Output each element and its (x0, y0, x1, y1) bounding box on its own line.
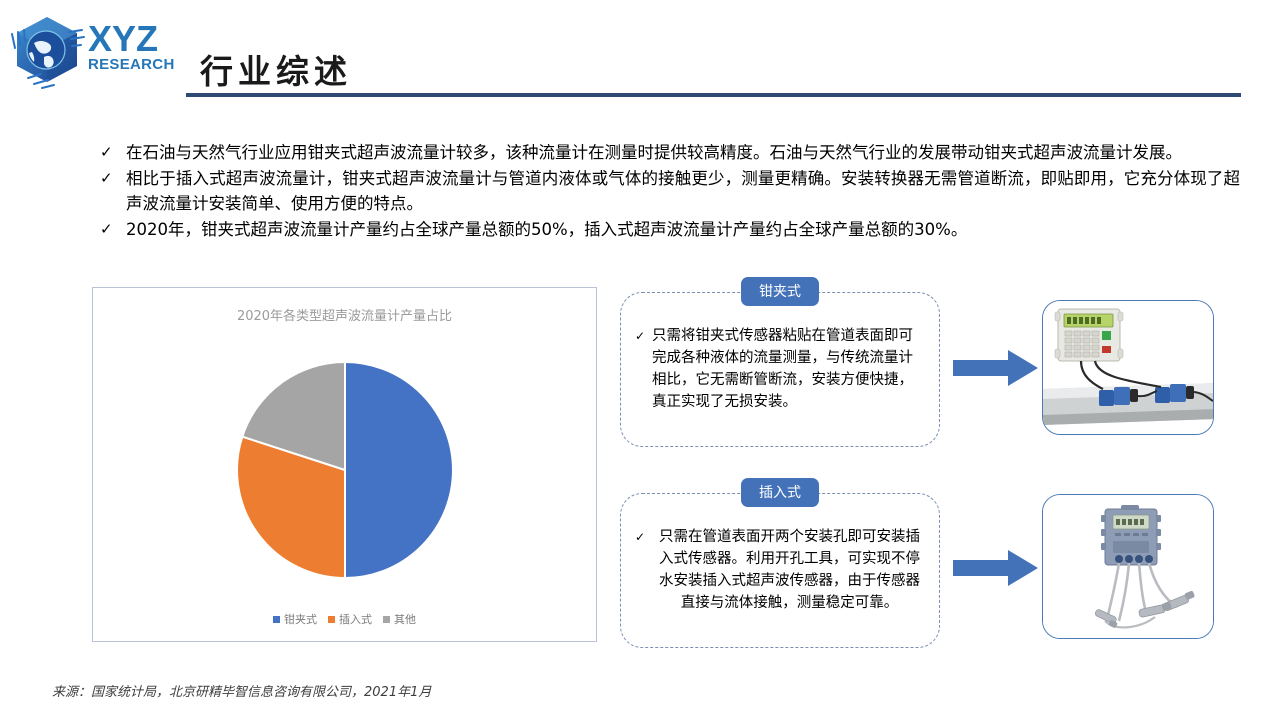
check-icon: ✓ (100, 217, 126, 242)
list-item: ✓ 2020年，钳夹式超声波流量计产量约占全球产量总额的50%，插入式超声波流量… (100, 217, 1240, 242)
callout-card-insertion: 插入式 ✓ 只需在管道表面开两个安装孔即可安装插入式传感器。利用开孔工具，可实现… (620, 493, 940, 648)
legend-label: 插入式 (339, 611, 372, 627)
check-icon: ✓ (100, 140, 126, 165)
check-icon: ✓ (635, 526, 652, 548)
title-divider (186, 93, 1241, 97)
brand-name-secondary: RESEARCH (88, 56, 193, 74)
page-title: 行业综述 (200, 45, 352, 93)
callout-card-clamp-on: 钳夹式 ✓ 只需将钳夹式传感器粘贴在管道表面即可完成各种液体的流量测量，与传统流… (620, 292, 940, 447)
check-icon: ✓ (635, 325, 652, 347)
list-item-text: 在石油与天然气行业应用钳夹式超声波流量计较多，该种流量计在测量时提供较高精度。石… (126, 140, 1240, 165)
insertion-ultrasonic-flowmeter-photo (1042, 494, 1214, 639)
slide-header: XYZ RESEARCH 行业综述 (0, 0, 1280, 110)
right-arrow-icon (953, 348, 1038, 388)
brand-wordmark: XYZ RESEARCH (88, 22, 193, 74)
legend-label: 其他 (394, 611, 416, 627)
chart-title: 2020年各类型超声波流量计产量占比 (93, 305, 596, 324)
list-item-text: 相比于插入式超声波流量计，钳夹式超声波流量计与管道内液体或气体的接触更少，测量更… (126, 166, 1240, 216)
callout-badge: 插入式 (741, 478, 819, 507)
list-item: ✓ 相比于插入式超声波流量计，钳夹式超声波流量计与管道内液体或气体的接触更少，测… (100, 166, 1240, 216)
legend-swatch (273, 616, 280, 623)
callout-body: ✓ 只需将钳夹式传感器粘贴在管道表面即可完成各种液体的流量测量，与传统流量计相比… (635, 325, 927, 413)
source-note: 来源：国家统计局，北京研精毕智信息咨询有限公司，2021年1月 (52, 681, 431, 700)
callout-badge: 钳夹式 (741, 277, 819, 306)
pie-slice (345, 362, 453, 578)
chart-legend: 钳夹式 插入式 其他 (93, 611, 596, 627)
bullet-list: ✓ 在石油与天然气行业应用钳夹式超声波流量计较多，该种流量计在测量时提供较高精度… (100, 140, 1240, 243)
callout-body: ✓ 只需在管道表面开两个安装孔即可安装插入式传感器。利用开孔工具，可实现不停水安… (635, 526, 927, 614)
brand-name-primary: XYZ (88, 22, 193, 56)
callout-text: 只需将钳夹式传感器粘贴在管道表面即可完成各种液体的流量测量，与传统流量计相比，它… (652, 325, 927, 413)
list-item: ✓ 在石油与天然气行业应用钳夹式超声波流量计较多，该种流量计在测量时提供较高精度… (100, 140, 1240, 165)
legend-item: 钳夹式 (273, 611, 317, 627)
list-item-text: 2020年，钳夹式超声波流量计产量约占全球产量总额的50%，插入式超声波流量计产… (126, 217, 1240, 242)
legend-swatch (383, 616, 390, 623)
globe-hexagon-icon (8, 12, 86, 90)
legend-swatch (328, 616, 335, 623)
pie-chart (235, 360, 455, 580)
legend-item: 插入式 (328, 611, 372, 627)
legend-label: 钳夹式 (284, 611, 317, 627)
pie-chart-panel: 2020年各类型超声波流量计产量占比 钳夹式 插入式 其他 (92, 287, 597, 642)
callout-text: 只需在管道表面开两个安装孔即可安装插入式传感器。利用开孔工具，可实现不停水安装插… (652, 526, 927, 614)
check-icon: ✓ (100, 166, 126, 191)
right-arrow-icon (953, 548, 1038, 588)
legend-item: 其他 (383, 611, 416, 627)
clamp-on-ultrasonic-flowmeter-photo (1042, 300, 1214, 435)
